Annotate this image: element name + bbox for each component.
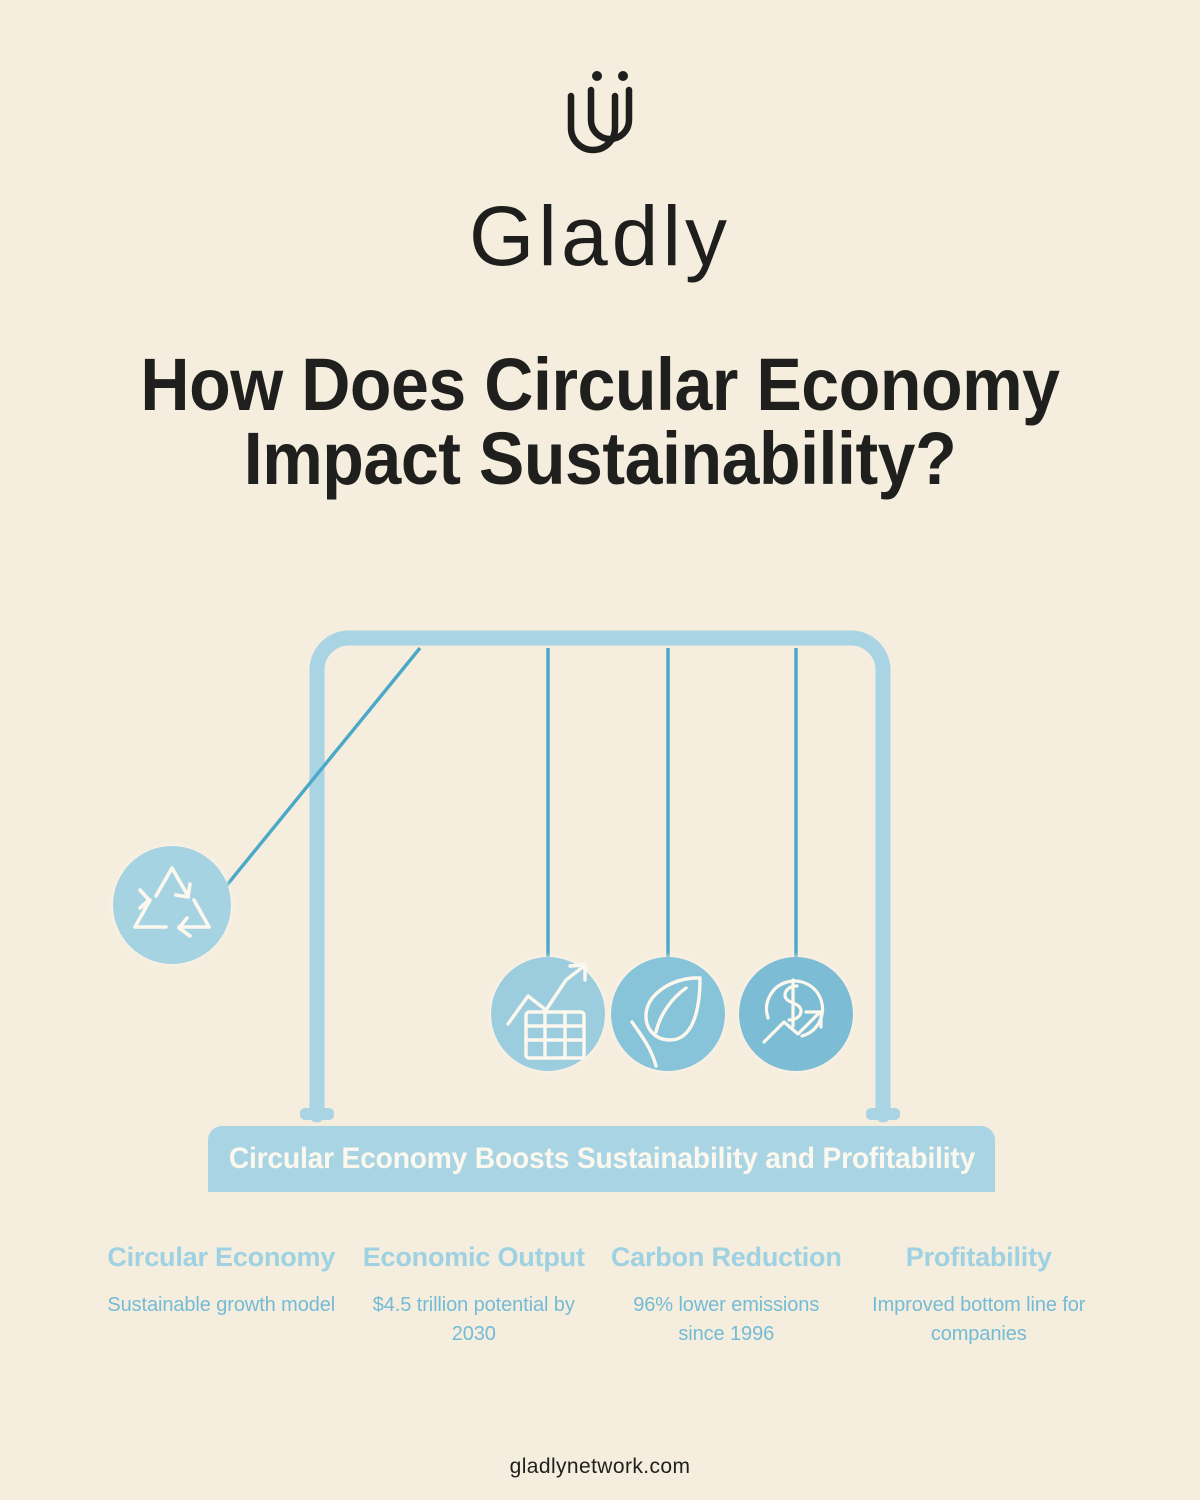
stat-title: Circular Economy bbox=[103, 1240, 340, 1275]
banner-text-wrapper: Circular Economy Boosts Sustainability a… bbox=[208, 1126, 995, 1192]
headline-line-2: Impact Sustainability? bbox=[103, 422, 1097, 496]
stat-desc: $4.5 trillion potential by 2030 bbox=[356, 1291, 593, 1349]
cradle-ball-economic-output[interactable] bbox=[491, 957, 605, 1071]
cradle-foot-right bbox=[866, 1108, 900, 1120]
cradle-foot-left bbox=[300, 1108, 334, 1120]
infographic-page: Gladly How Does Circular Economy Impact … bbox=[0, 0, 1200, 1500]
cradle-ball-carbon-reduction[interactable] bbox=[611, 957, 725, 1071]
stats-columns: Circular Economy Sustainable growth mode… bbox=[95, 1240, 1105, 1349]
stat-desc: Sustainable growth model bbox=[103, 1291, 340, 1320]
stat-desc: 96% lower emissions since 1996 bbox=[608, 1291, 845, 1349]
headline-line-1: How Does Circular Economy bbox=[140, 343, 1059, 426]
brand-header: Gladly bbox=[0, 62, 1200, 278]
page-title: How Does Circular Economy Impact Sustain… bbox=[103, 348, 1097, 496]
stat-column-economic-output: Economic Output $4.5 trillion potential … bbox=[348, 1240, 601, 1349]
brand-name: Gladly bbox=[469, 194, 731, 278]
gladly-u-mark-icon bbox=[545, 62, 655, 172]
stat-column-circular-economy: Circular Economy Sustainable growth mode… bbox=[95, 1240, 348, 1349]
stat-column-carbon-reduction: Carbon Reduction 96% lower emissions sin… bbox=[600, 1240, 853, 1349]
stat-title: Economic Output bbox=[356, 1240, 593, 1275]
cradle-ball-recycle[interactable] bbox=[113, 846, 231, 964]
footer-url[interactable]: gladlynetwork.com bbox=[0, 1455, 1200, 1479]
cradle-ball-profitability[interactable] bbox=[739, 957, 853, 1071]
cradle-strings bbox=[218, 648, 796, 960]
banner-text: Circular Economy Boosts Sustainability a… bbox=[228, 1142, 974, 1176]
stat-column-profitability: Profitability Improved bottom line for c… bbox=[853, 1240, 1106, 1349]
stat-title: Profitability bbox=[861, 1240, 1098, 1275]
stat-title: Carbon Reduction bbox=[608, 1240, 845, 1275]
stat-desc: Improved bottom line for companies bbox=[861, 1291, 1098, 1349]
